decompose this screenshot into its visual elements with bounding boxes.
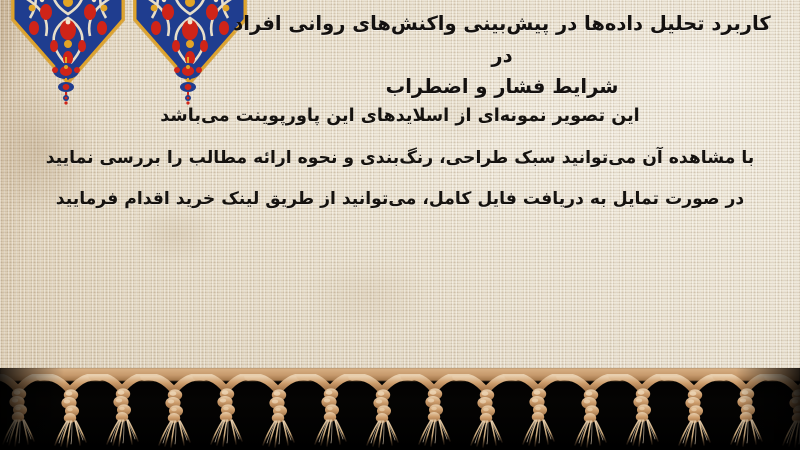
slide-canvas: کاربرد تحلیل داده‌ها در پیش‌بینی واکنش‌ه… xyxy=(0,0,800,450)
carpet-fringe-tassels xyxy=(0,374,800,450)
carpet-fringe-band xyxy=(0,368,800,450)
weave-texture xyxy=(0,0,800,378)
carpet-background xyxy=(0,0,800,378)
